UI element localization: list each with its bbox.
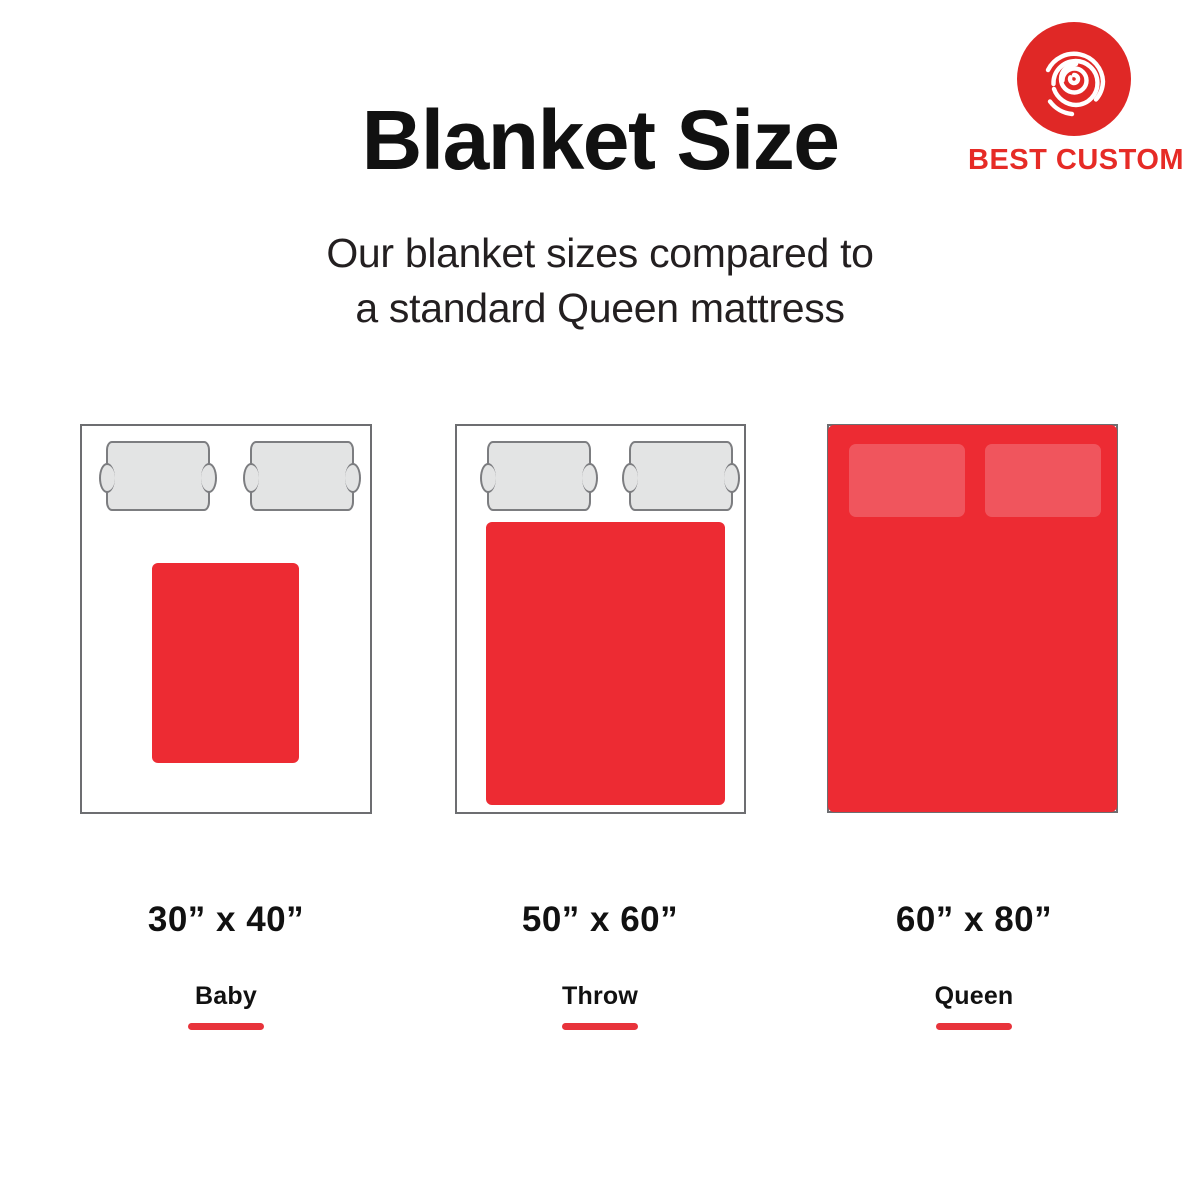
- page-subtitle-line-1: Our blanket sizes compared to: [0, 226, 1200, 281]
- label-group-throw: 50” x 60” Throw: [450, 900, 750, 1030]
- underline-accent: [936, 1023, 1012, 1030]
- pillow-left: [487, 441, 591, 511]
- mattress-outline-baby: [80, 424, 372, 814]
- pillow-right: [250, 441, 354, 511]
- underline-accent: [188, 1023, 264, 1030]
- size-name-queen: Queen: [824, 982, 1124, 1011]
- pillow-left: [849, 444, 965, 517]
- pillow-right: [985, 444, 1101, 517]
- page-subtitle-line-2: a standard Queen mattress: [0, 281, 1200, 336]
- label-group-queen: 60” x 80” Queen: [824, 900, 1124, 1030]
- bed-diagrams: [0, 424, 1200, 824]
- underline-accent: [562, 1023, 638, 1030]
- size-name-throw: Throw: [450, 982, 750, 1011]
- size-dimensions-baby: 30” x 40”: [76, 900, 376, 940]
- blanket-queen: [828, 425, 1117, 812]
- label-group-baby: 30” x 40” Baby: [76, 900, 376, 1030]
- mattress-outline-queen: [827, 424, 1118, 813]
- mattress-outline-throw: [455, 424, 746, 814]
- pillow-left: [106, 441, 210, 511]
- pillow-right: [629, 441, 733, 511]
- page-subtitle: Our blanket sizes compared to a standard…: [0, 226, 1200, 337]
- blanket-throw: [486, 522, 725, 805]
- size-dimensions-throw: 50” x 60”: [450, 900, 750, 940]
- size-labels: 30” x 40” Baby 50” x 60” Throw 60” x 80”…: [0, 900, 1200, 1060]
- bed-diagram-queen: [827, 424, 1118, 813]
- blanket-baby: [152, 563, 299, 763]
- bed-diagram-baby: [80, 424, 372, 814]
- bed-diagram-throw: [455, 424, 746, 814]
- page-title: Blanket Size: [0, 96, 1200, 184]
- size-name-baby: Baby: [76, 982, 376, 1011]
- size-dimensions-queen: 60” x 80”: [824, 900, 1124, 940]
